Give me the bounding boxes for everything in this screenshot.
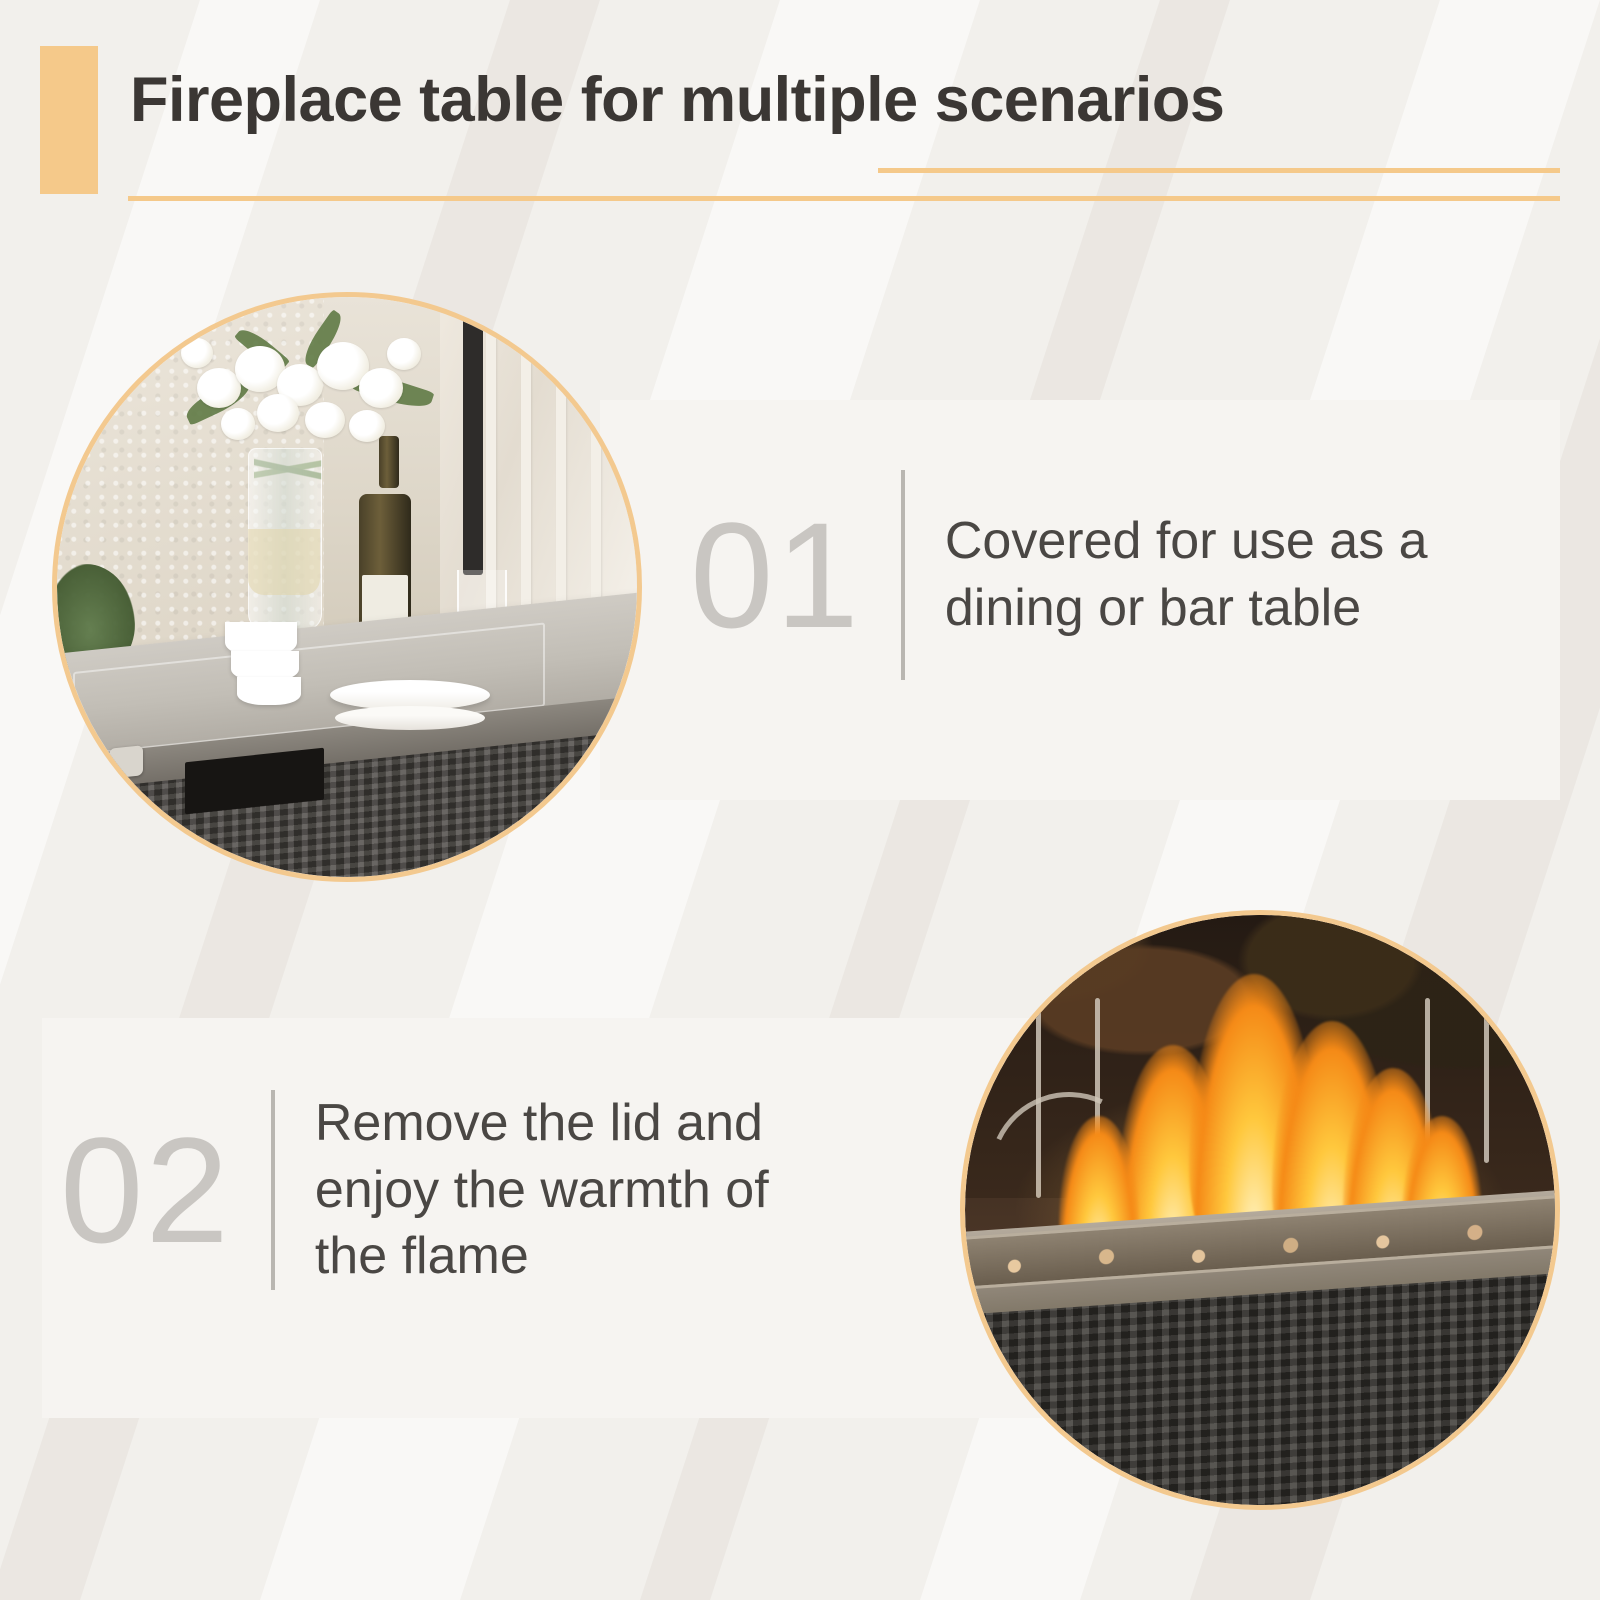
white-bowl xyxy=(237,677,301,705)
step-02: 02 Remove the lid and enjoy the warmth o… xyxy=(60,1090,835,1290)
header-accent-bar xyxy=(40,46,98,194)
plate-stack xyxy=(335,706,485,730)
page-header: Fireplace table for multiple scenarios xyxy=(40,46,1560,206)
step-02-number: 02 xyxy=(60,1115,231,1265)
step-01-divider xyxy=(901,470,905,680)
flame-scene-image xyxy=(965,915,1555,1505)
dining-scene-photo xyxy=(52,292,642,882)
scene-post xyxy=(463,297,483,575)
header-rule-long xyxy=(128,196,1560,201)
vase-water xyxy=(248,529,320,595)
dining-scene-image xyxy=(57,297,637,877)
header-rule-short xyxy=(878,168,1560,173)
step-01-number: 01 xyxy=(690,500,861,650)
wine-bottle-neck xyxy=(379,436,399,488)
control-knob xyxy=(109,745,143,779)
step-02-divider xyxy=(271,1090,275,1290)
patio-chair-frame xyxy=(1484,998,1489,1163)
page-title: Fireplace table for multiple scenarios xyxy=(130,64,1224,136)
step-01-text: Covered for use as a dining or bar table xyxy=(945,508,1465,641)
scene-railing xyxy=(591,314,601,633)
scene-railing xyxy=(521,314,531,633)
step-01: 01 Covered for use as a dining or bar ta… xyxy=(690,470,1465,680)
scene-railing xyxy=(556,314,566,633)
flame-scene-photo xyxy=(960,910,1560,1510)
step-02-text: Remove the lid and enjoy the warmth of t… xyxy=(315,1090,835,1290)
